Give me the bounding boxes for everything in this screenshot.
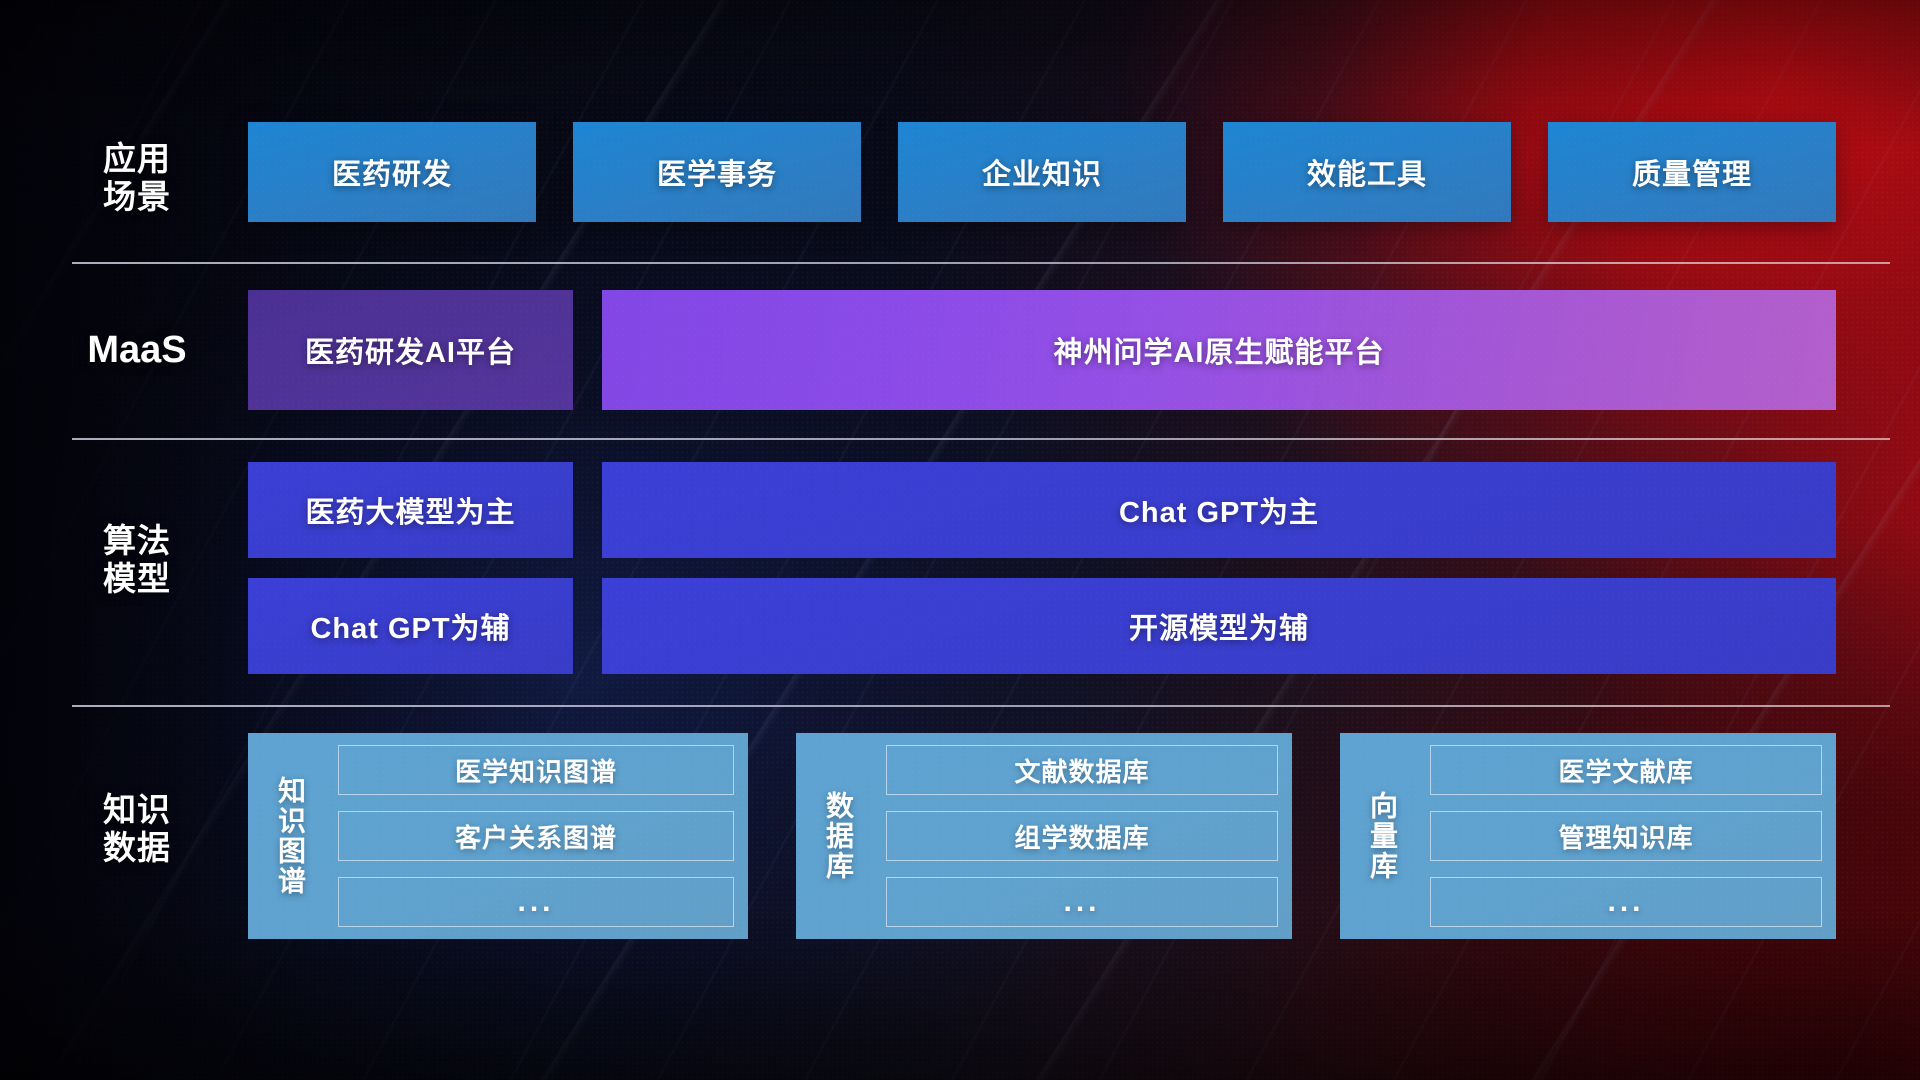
knowledge-item-omics-database[interactable]: 组学数据库 [886,811,1278,861]
algo-box-pharma-llm-primary[interactable]: 医药大模型为主 [248,462,573,558]
divider-after-application-scenarios [72,262,1890,264]
knowledge-group-title-knowledge-graph: 知识图谱 [260,745,320,927]
maas-box-shenzhou-wenxue-platform[interactable]: 神州问学AI原生赋能平台 [602,290,1836,410]
maas-box-drug-rd-ai-platform[interactable]: 医药研发AI平台 [248,290,573,410]
algo-box-chatgpt-primary[interactable]: Chat GPT为主 [602,462,1836,558]
knowledge-item-list: 医学知识图谱 客户关系图谱 ... [338,745,734,927]
knowledge-group-database[interactable]: 数据库 文献数据库 组学数据库 ... [796,733,1292,939]
algo-box-opensource-secondary[interactable]: 开源模型为辅 [602,578,1836,674]
algo-box-chatgpt-secondary[interactable]: Chat GPT为辅 [248,578,573,674]
architecture-diagram: 应用 场景 医药研发 医学事务 企业知识 效能工具 质量管理 MaaS 医药研发… [0,0,1920,1080]
knowledge-item-customer-relation-graph[interactable]: 客户关系图谱 [338,811,734,861]
divider-after-maas [72,438,1890,440]
row-label-maas: MaaS [72,328,202,372]
row-label-algorithm-model: 算法 模型 [72,522,202,599]
knowledge-group-title-database: 数据库 [808,745,868,927]
app-box-enterprise-knowledge[interactable]: 企业知识 [898,122,1186,222]
knowledge-group-vector-store[interactable]: 向量库 医学文献库 管理知识库 ... [1340,733,1836,939]
knowledge-item-management-knowledge-store[interactable]: 管理知识库 [1430,811,1822,861]
knowledge-item-more-ellipsis[interactable]: ... [1430,877,1822,927]
knowledge-item-more-ellipsis[interactable]: ... [338,877,734,927]
knowledge-item-medical-literature-store[interactable]: 医学文献库 [1430,745,1822,795]
app-box-efficiency-tools[interactable]: 效能工具 [1223,122,1511,222]
row-algorithm-model: 算法 模型 医药大模型为主 Chat GPT为主 Chat GPT为辅 开源模型… [0,462,1920,682]
app-box-medical-affairs[interactable]: 医学事务 [573,122,861,222]
app-box-drug-rd[interactable]: 医药研发 [248,122,536,222]
knowledge-item-more-ellipsis[interactable]: ... [886,877,1278,927]
knowledge-group-knowledge-graph[interactable]: 知识图谱 医学知识图谱 客户关系图谱 ... [248,733,748,939]
knowledge-group-title-vector-store: 向量库 [1352,745,1412,927]
knowledge-item-list: 医学文献库 管理知识库 ... [1430,745,1822,927]
row-knowledge-data: 知识 数据 知识图谱 医学知识图谱 客户关系图谱 ... 数据库 文献数据库 组… [0,733,1920,939]
knowledge-item-list: 文献数据库 组学数据库 ... [886,745,1278,927]
row-label-application-scenarios: 应用 场景 [72,140,202,217]
knowledge-item-literature-database[interactable]: 文献数据库 [886,745,1278,795]
app-box-quality-management[interactable]: 质量管理 [1548,122,1836,222]
row-label-knowledge-data: 知识 数据 [72,791,202,868]
row-application-scenarios: 应用 场景 医药研发 医学事务 企业知识 效能工具 质量管理 [0,122,1920,222]
divider-after-algorithm-model [72,705,1890,707]
knowledge-item-medical-knowledge-graph[interactable]: 医学知识图谱 [338,745,734,795]
row-maas: MaaS 医药研发AI平台 神州问学AI原生赋能平台 [0,290,1920,410]
